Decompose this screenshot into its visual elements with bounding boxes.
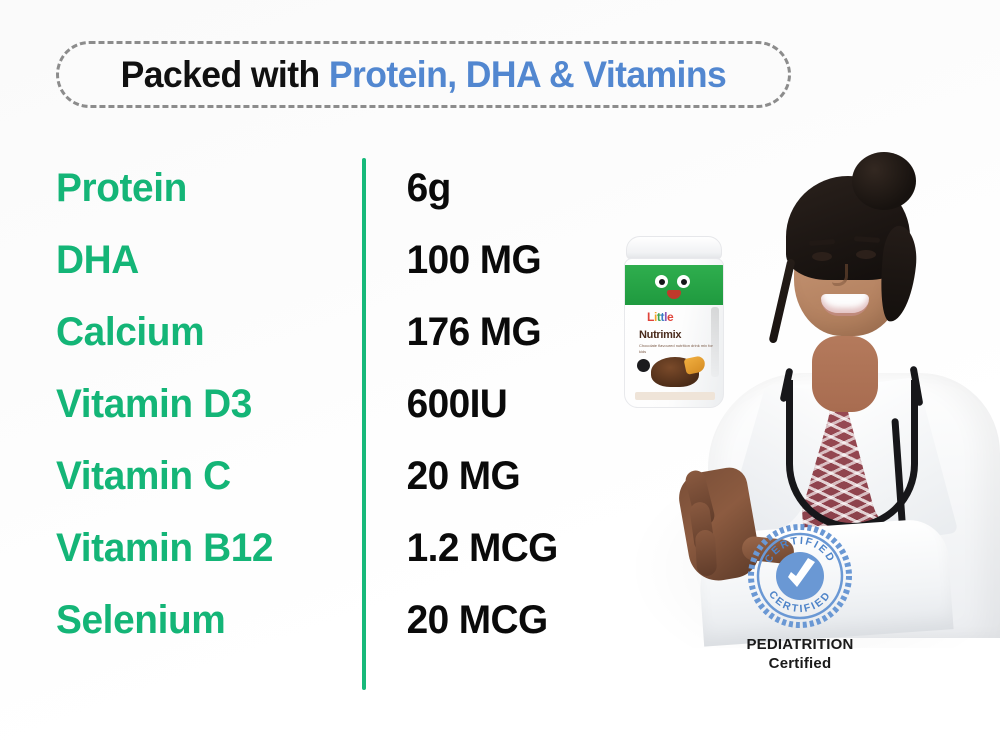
nutrient-table: Protein 6g DHA 100 MG Calcium 176 MG Vit… xyxy=(56,158,616,690)
certified-stamp-icon: CERTIFIED CERTIFIED xyxy=(748,524,852,628)
nutrient-name: DHA xyxy=(56,240,353,280)
certification-caption-secondary: Certified xyxy=(720,655,880,674)
jar-badge-dot xyxy=(637,359,650,372)
jar-green-band xyxy=(625,265,724,305)
jar-mascot-pupil-right xyxy=(681,279,687,285)
nutrient-value: 1.2 MCG xyxy=(362,528,558,568)
jar-scoop-graphic xyxy=(684,355,707,375)
brand-letter: e xyxy=(667,310,673,324)
table-row: Vitamin C 20 MG xyxy=(56,456,616,528)
nutrient-name: Calcium xyxy=(56,312,353,352)
smile xyxy=(821,294,869,316)
certification-block: CERTIFIED CERTIFIED PEDIATRITION Certifi… xyxy=(720,524,880,674)
table-row: Calcium 176 MG xyxy=(56,312,616,384)
table-row: Protein 6g xyxy=(56,168,616,240)
jar-bottom-bar xyxy=(635,392,715,400)
brand-letter: L xyxy=(647,310,654,324)
nutrient-value: 20 MCG xyxy=(362,600,548,640)
nutrient-name: Protein xyxy=(56,168,353,208)
nutrient-value: 100 MG xyxy=(362,240,541,280)
nutrient-value: 6g xyxy=(362,168,451,208)
product-name: Nutrimix xyxy=(639,329,681,341)
eye-left xyxy=(812,252,832,261)
certification-caption-primary: PEDIATRITION xyxy=(720,636,880,655)
nutrient-name: Vitamin D3 xyxy=(56,384,353,424)
table-row: Vitamin B12 1.2 MCG xyxy=(56,528,616,600)
product-jar: Little Nutrimix Chocolate flavoured nutr… xyxy=(622,236,726,408)
jar-mascot-pupil-left xyxy=(659,279,665,285)
headline-text: Packed with Protein, DHA & Vitamins xyxy=(121,56,727,93)
nutrient-name: Vitamin C xyxy=(56,456,353,496)
jar-body: Little Nutrimix Chocolate flavoured nutr… xyxy=(624,258,724,408)
nutrient-value: 600IU xyxy=(362,384,507,424)
eye-right xyxy=(856,250,876,259)
finger xyxy=(695,530,717,577)
table-row: Selenium 20 MCG xyxy=(56,600,616,672)
nutrient-value: 176 MG xyxy=(362,312,541,352)
headline-prefix: Packed with xyxy=(121,54,329,95)
jar-lid xyxy=(626,236,722,260)
hair-strand xyxy=(768,258,795,344)
headline-highlight: Protein, DHA & Vitamins xyxy=(329,54,726,95)
table-row: Vitamin D3 600IU xyxy=(56,384,616,456)
headline-banner: Packed with Protein, DHA & Vitamins xyxy=(56,41,791,108)
table-row: DHA 100 MG xyxy=(56,240,616,312)
nutrient-value: 20 MG xyxy=(362,456,520,496)
brand-logo: Little xyxy=(647,311,673,323)
nutrient-name: Selenium xyxy=(56,600,353,640)
product-description: Chocolate flavoured nutrition drink mix … xyxy=(639,343,713,355)
jar-side-strip xyxy=(711,307,719,377)
infographic-canvas: Packed with Protein, DHA & Vitamins Prot… xyxy=(0,0,1000,750)
nutrient-row-list: Protein 6g DHA 100 MG Calcium 176 MG Vit… xyxy=(56,158,616,690)
nutrient-name: Vitamin B12 xyxy=(56,528,353,568)
hair-bun xyxy=(852,152,916,210)
